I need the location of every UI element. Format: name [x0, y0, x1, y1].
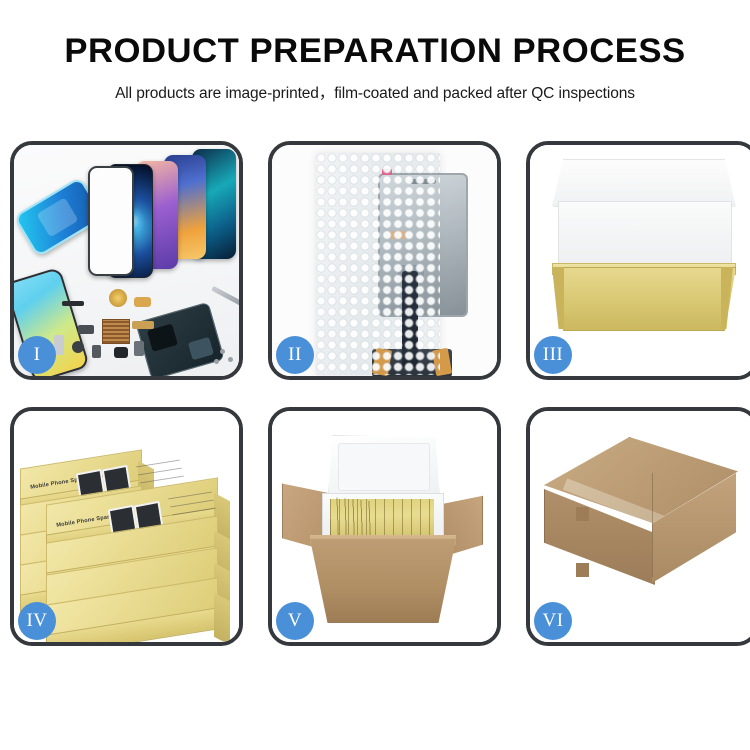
- step-badge-1: I: [18, 336, 56, 374]
- foam-lid-flap: [552, 159, 736, 207]
- process-step-panel-6: VI: [526, 407, 750, 646]
- process-step-panel-5: V: [268, 407, 501, 646]
- spare-part: [132, 321, 154, 329]
- phone-white-blank: [88, 166, 134, 276]
- step-badge-5: V: [276, 602, 314, 640]
- spare-part: [72, 341, 84, 353]
- spare-part: [134, 297, 151, 307]
- styrofoam-lid: [328, 435, 440, 499]
- copper-coil-part: [109, 289, 127, 307]
- carton-corner-seam: [652, 473, 653, 577]
- cardboard-carton: [310, 539, 456, 623]
- step-badge-4: IV: [18, 602, 56, 640]
- screw-part: [214, 359, 219, 364]
- process-step-panel-3: III: [526, 141, 750, 380]
- process-steps-grid: I II: [10, 141, 740, 686]
- step-badge-3: III: [534, 336, 572, 374]
- box-side-face: [214, 593, 230, 642]
- spare-part: [78, 325, 94, 334]
- box-stack: Mobile Phone Spare Parts: [18, 433, 236, 629]
- bubble-wrap-bag: [316, 153, 440, 375]
- process-step-panel-1: I: [10, 141, 243, 380]
- carton-handle-notch: [576, 507, 589, 521]
- step-badge-6: VI: [534, 602, 572, 640]
- screw-part: [220, 349, 225, 354]
- header-block: PRODUCT PREPARATION PROCESS All products…: [0, 0, 750, 103]
- spare-part: [114, 347, 128, 358]
- chip-grid-part: [102, 319, 130, 344]
- page-subtitle: All products are image-printed，film-coat…: [0, 81, 750, 103]
- screw-part: [228, 357, 233, 362]
- step-badge-2: II: [276, 336, 314, 374]
- spare-part: [134, 341, 144, 356]
- spare-part: [92, 345, 101, 358]
- process-step-panel-4: Mobile Phone Spare Parts: [10, 407, 243, 646]
- spare-part: [62, 301, 84, 306]
- page-title: PRODUCT PREPARATION PROCESS: [0, 34, 750, 70]
- carton-handle-notch: [576, 563, 589, 577]
- bubble-texture: [316, 153, 440, 375]
- yellow-box-front: [552, 267, 736, 331]
- process-step-panel-2: II: [268, 141, 501, 380]
